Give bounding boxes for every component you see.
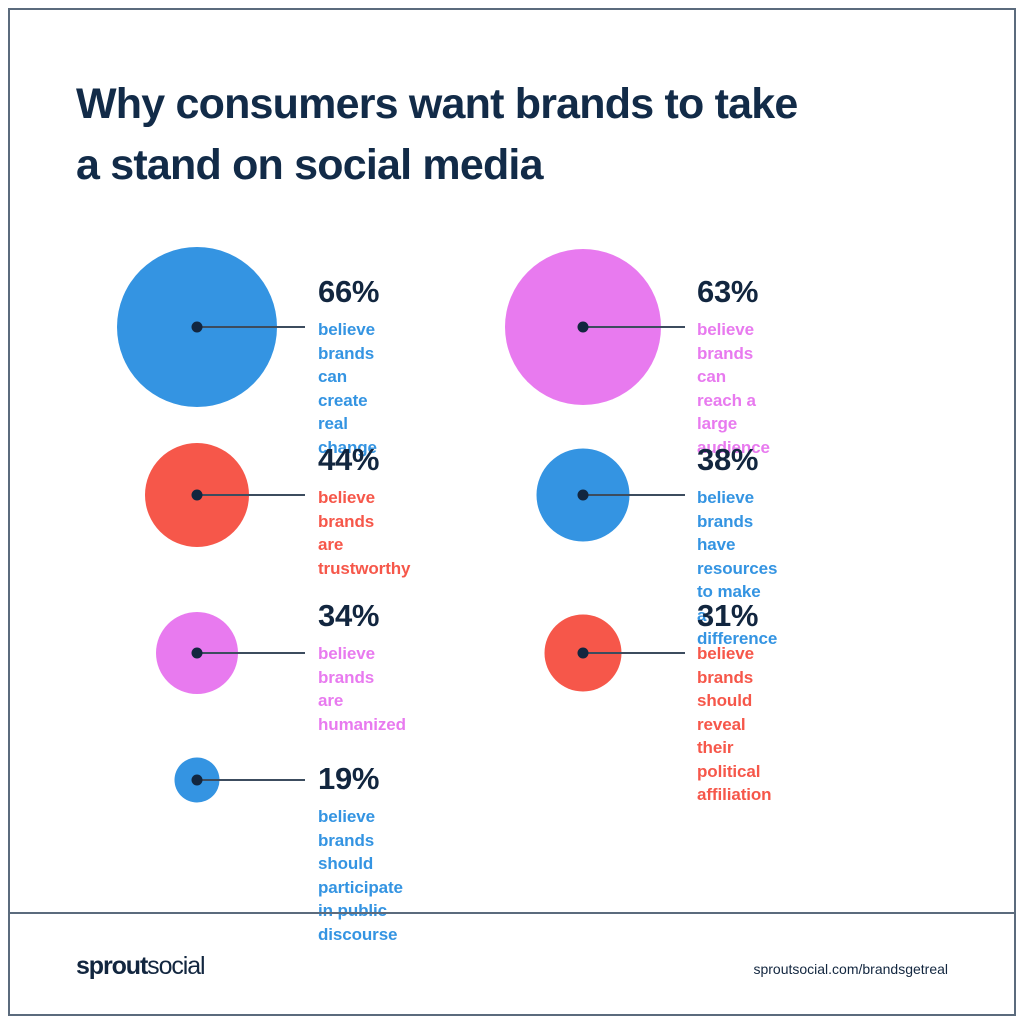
bubble-center-dot xyxy=(578,648,589,659)
footer-divider xyxy=(10,912,1014,914)
bubble-label: 63%believe brands can reach a large audi… xyxy=(697,275,770,459)
leader-line xyxy=(197,326,305,328)
bubble-percent-value: 38% xyxy=(697,443,777,477)
source-url: sproutsocial.com/brandsgetreal xyxy=(753,960,948,978)
bubble-center-dot xyxy=(192,775,203,786)
bubble-percent-value: 34% xyxy=(318,599,406,633)
logo-regular-text: social xyxy=(147,952,204,980)
leader-line xyxy=(583,326,685,328)
bubble-description: believe brands are trustworthy xyxy=(318,486,410,580)
bubble-percent-value: 44% xyxy=(318,443,410,477)
leader-line xyxy=(197,652,305,654)
bubble-description: believe brands can reach a large audienc… xyxy=(697,318,770,459)
bubble-label: 66%believe brands can create real change xyxy=(318,275,379,459)
leader-line xyxy=(197,494,305,496)
bubble-label: 44%believe brands are trustworthy xyxy=(318,443,410,580)
bubble-percent-value: 63% xyxy=(697,275,770,309)
bubble-center-dot xyxy=(192,490,203,501)
bubble-description: believe brands can create real change xyxy=(318,318,379,459)
leader-line xyxy=(197,779,305,781)
bubble-description: believe brands should reveal their polit… xyxy=(697,642,771,807)
bubble-label: 19%believe brands should participate in … xyxy=(318,762,403,946)
leader-line xyxy=(583,494,685,496)
infographic-canvas: Why consumers want brands to take a stan… xyxy=(0,0,1024,1024)
bubble-center-dot xyxy=(578,490,589,501)
bubble-percent-value: 19% xyxy=(318,762,403,796)
bubble-description: believe brands should participate in pub… xyxy=(318,805,403,946)
leader-line xyxy=(583,652,685,654)
bubble-percent-value: 66% xyxy=(318,275,379,309)
bubble-label: 31%believe brands should reveal their po… xyxy=(697,599,771,807)
bubble-center-dot xyxy=(192,648,203,659)
bubble-chart: 66%believe brands can create real change… xyxy=(0,0,1024,1024)
bubble-center-dot xyxy=(192,322,203,333)
bubble-percent-value: 31% xyxy=(697,599,771,633)
logo-bold-text: sprout xyxy=(76,952,147,980)
bubble-label: 34%believe brands are humanized xyxy=(318,599,406,736)
bubble-center-dot xyxy=(578,322,589,333)
sproutsocial-logo: sproutsocial xyxy=(76,952,205,980)
bubble-description: believe brands are humanized xyxy=(318,642,406,736)
